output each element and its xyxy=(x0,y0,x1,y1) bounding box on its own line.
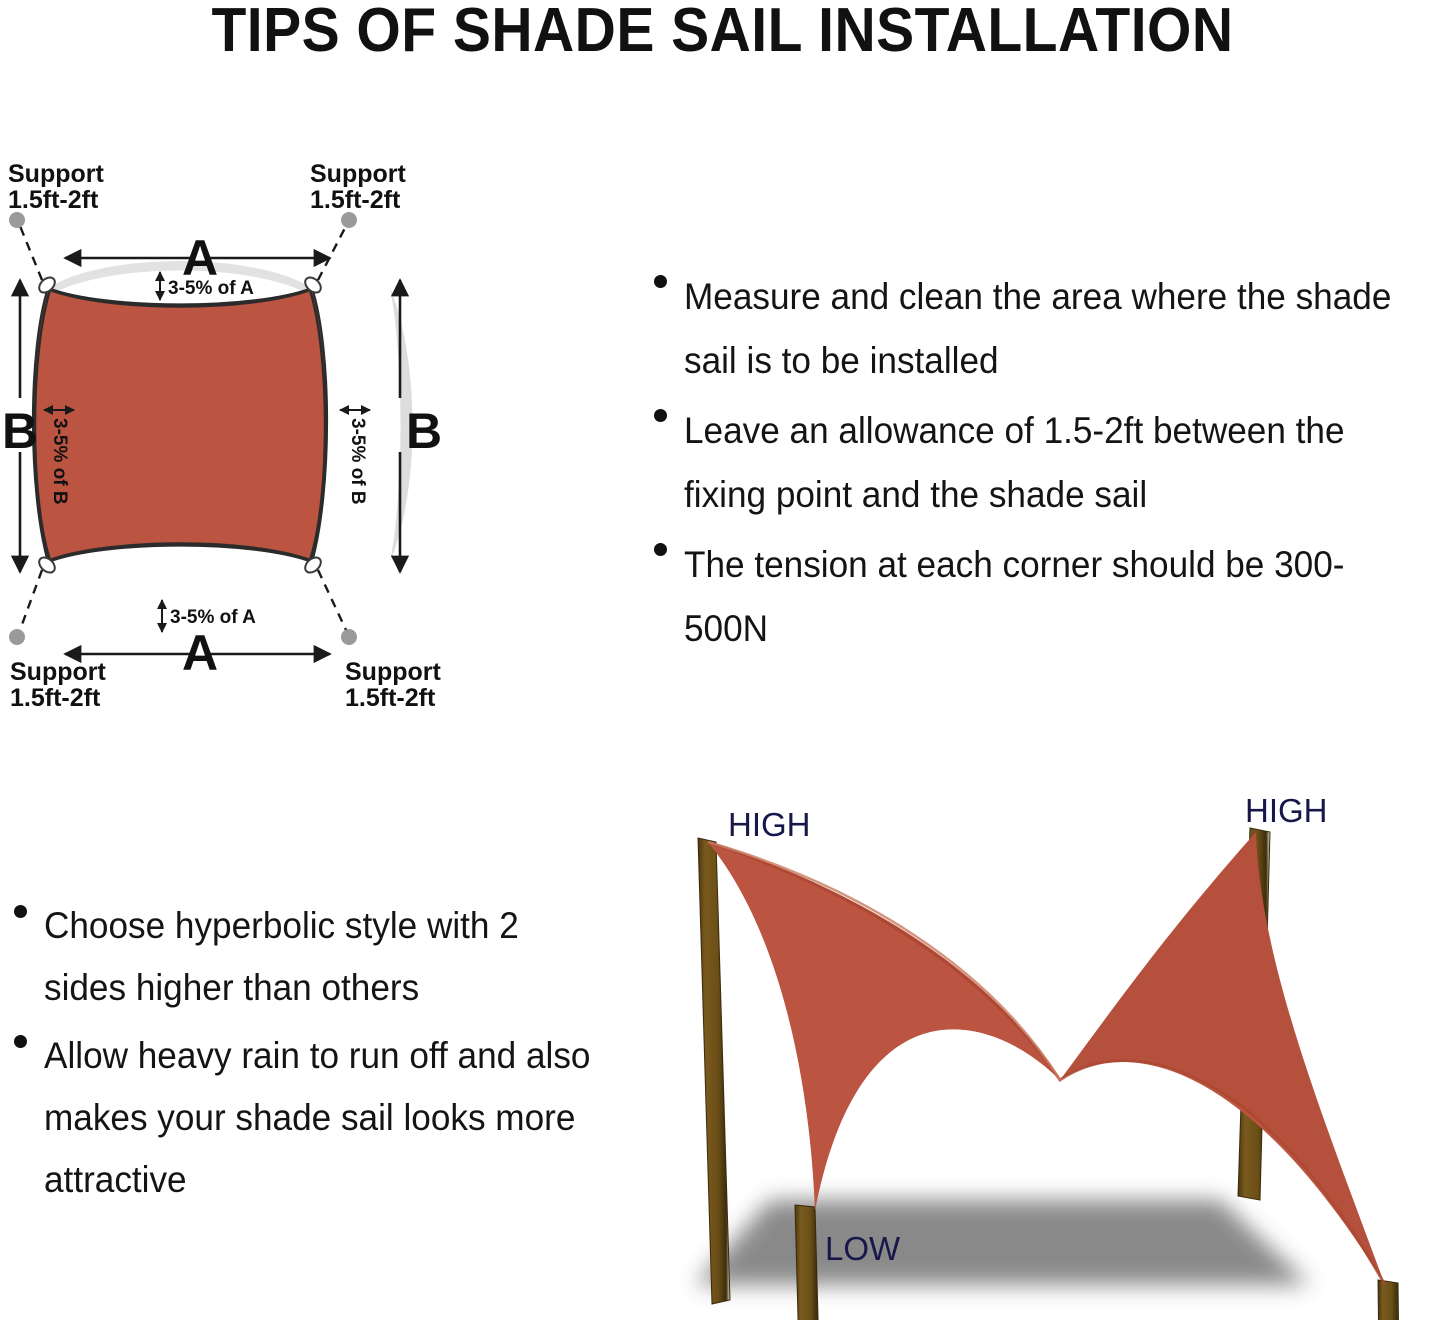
post-low-right xyxy=(1378,1280,1400,1320)
support-label-bottom-right: Support 1.5ft-2ft xyxy=(345,658,441,712)
tip-item: Allow heavy rain to run off and also mak… xyxy=(0,1025,620,1211)
hyperbolic-sail-svg: HIGH HIGH LOW LOW xyxy=(660,780,1445,1320)
dimension-b-right-label: B xyxy=(406,403,442,459)
ground-shadow xyxy=(695,1200,1310,1285)
bullet-dot-icon xyxy=(654,543,667,556)
installation-tips-lower-list: Choose hyperbolic style with 2 sides hig… xyxy=(0,895,620,1217)
page-title: TIPS OF SHADE SAIL INSTALLATION xyxy=(58,0,1387,68)
tip-text: Choose hyperbolic style with 2 sides hig… xyxy=(44,895,591,1019)
curvature-bottom-label: 3-5% of A xyxy=(170,607,256,628)
installation-tips-upper-list: Measure and clean the area where the sha… xyxy=(640,265,1445,667)
support-dot xyxy=(9,629,25,645)
support-dot xyxy=(9,212,25,228)
support-label-line1: Support xyxy=(310,160,406,188)
tip-item: Leave an allowance of 1.5-2ft between th… xyxy=(640,399,1445,527)
tip-item: The tension at each corner should be 300… xyxy=(640,533,1445,661)
label-low-right: LOW xyxy=(1260,1315,1336,1320)
support-label-line2: 1.5ft-2ft xyxy=(345,684,436,712)
label-high-left: HIGH xyxy=(728,806,811,843)
curvature-top-label: 3-5% of A xyxy=(168,278,254,299)
support-label-line1: Support xyxy=(10,658,106,686)
bullet-dot-icon xyxy=(654,409,667,422)
tip-text: Allow heavy rain to run off and also mak… xyxy=(44,1025,591,1211)
rectangle-sail-svg: A 3-5% of A A 3-5% of A B 3-5% of B xyxy=(0,160,660,740)
sail-shape-outline xyxy=(35,290,325,560)
tip-item: Choose hyperbolic style with 2 sides hig… xyxy=(0,895,620,1019)
support-label-line2: 1.5ft-2ft xyxy=(310,186,401,214)
tip-text: The tension at each corner should be 300… xyxy=(684,533,1407,661)
tip-text: Measure and clean the area where the sha… xyxy=(684,265,1407,393)
support-dot xyxy=(341,629,357,645)
support-label-line2: 1.5ft-2ft xyxy=(8,186,99,214)
support-dot xyxy=(341,212,357,228)
support-label-line1: Support xyxy=(8,160,104,188)
tip-item: Measure and clean the area where the sha… xyxy=(640,265,1445,393)
dimension-b-left-label: B xyxy=(2,403,38,459)
post-high-left xyxy=(698,838,730,1304)
hyperbolic-sail-diagram: HIGH HIGH LOW LOW xyxy=(660,780,1445,1320)
support-label-top-right: Support 1.5ft-2ft xyxy=(310,160,406,214)
support-label-bottom-left: Support 1.5ft-2ft xyxy=(10,658,106,712)
label-high-right: HIGH xyxy=(1245,792,1328,829)
curvature-right-label: 3-5% of B xyxy=(347,418,368,505)
rectangle-sail-diagram: A 3-5% of A A 3-5% of A B 3-5% of B xyxy=(0,160,660,740)
curvature-left-label: 3-5% of B xyxy=(49,418,70,505)
dimension-a-bottom-label: A xyxy=(182,625,218,681)
support-label-line1: Support xyxy=(345,658,441,686)
label-low-left: LOW xyxy=(825,1230,901,1267)
bullet-dot-icon xyxy=(14,905,27,918)
bullet-dot-icon xyxy=(14,1035,27,1048)
support-label-top-left: Support 1.5ft-2ft xyxy=(8,160,104,214)
support-label-line2: 1.5ft-2ft xyxy=(10,684,101,712)
tip-text: Leave an allowance of 1.5-2ft between th… xyxy=(684,399,1407,527)
bullet-dot-icon xyxy=(654,275,667,288)
